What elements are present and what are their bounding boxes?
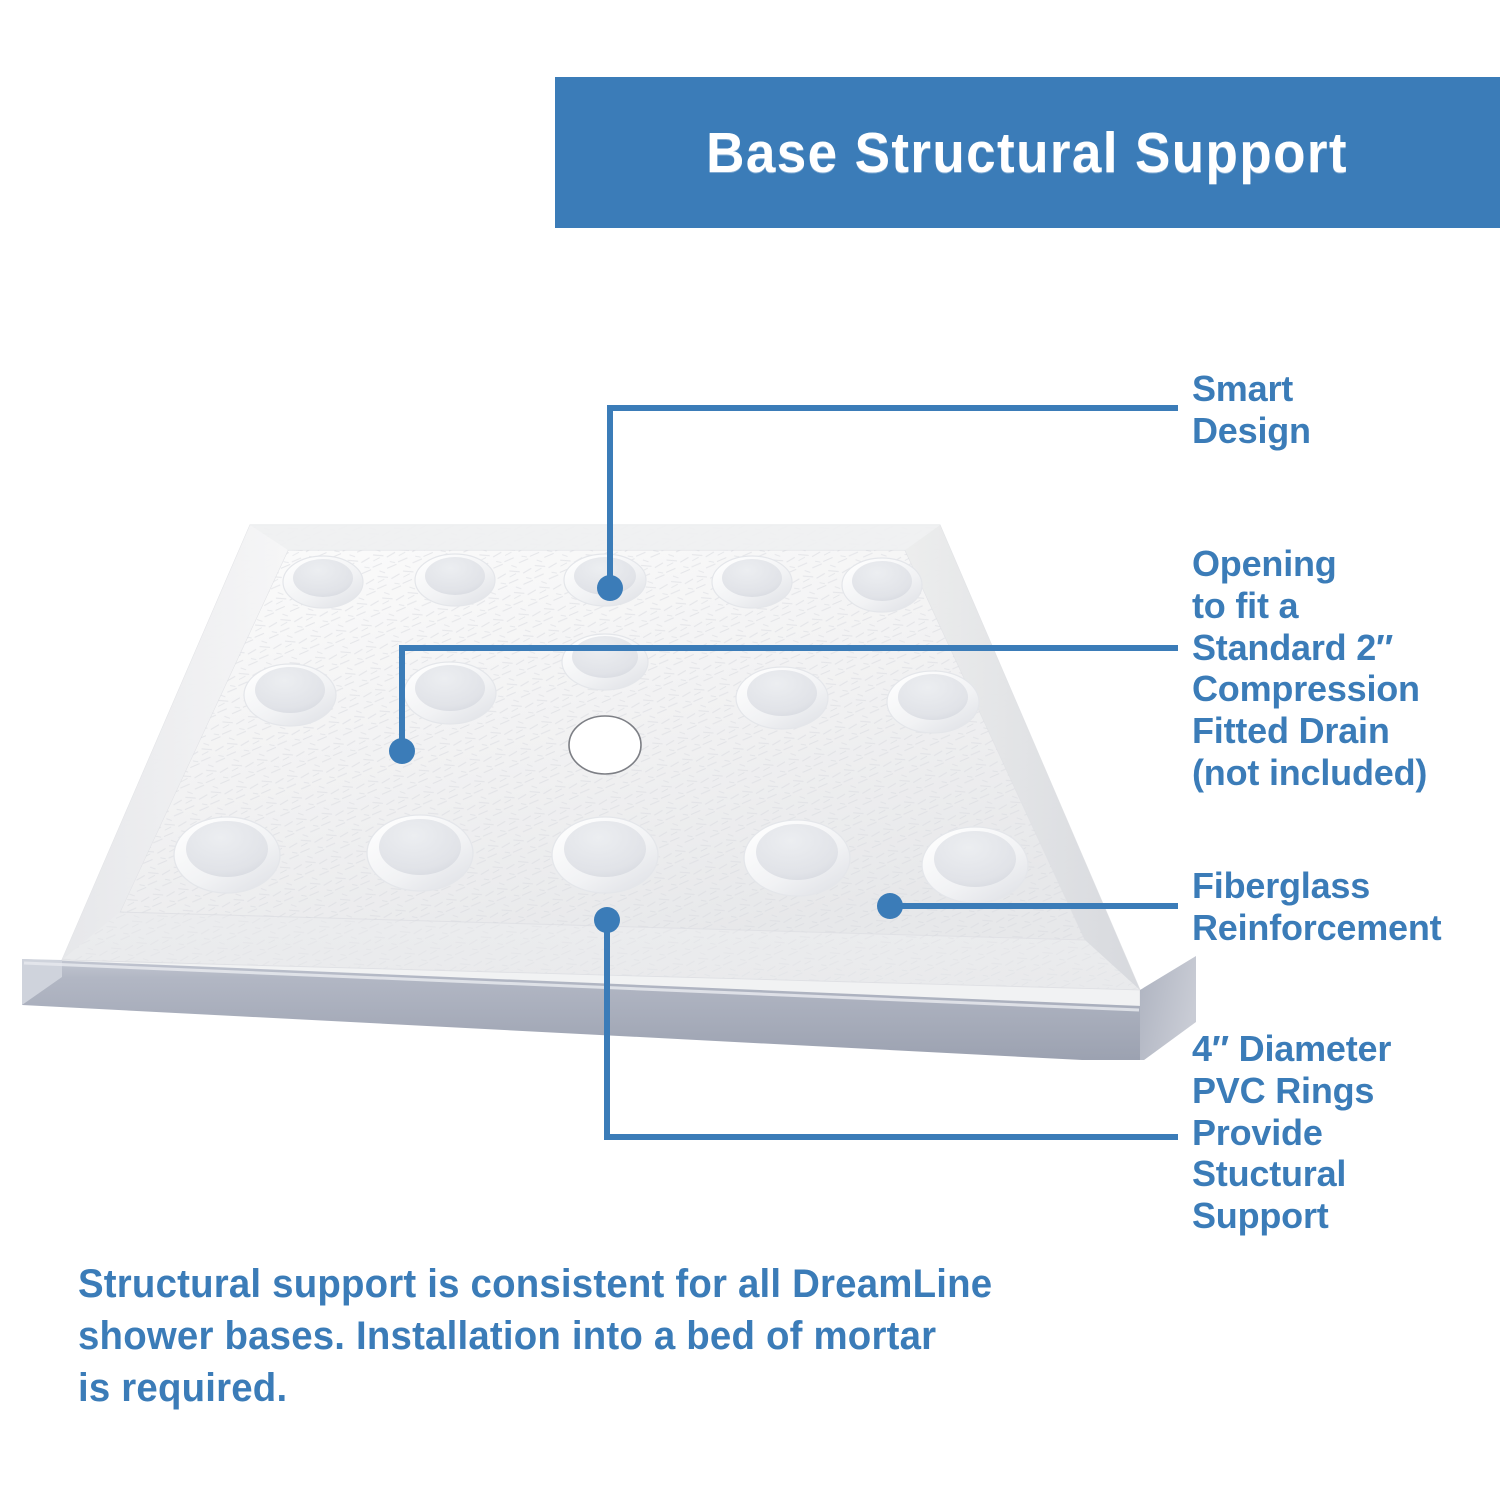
callout-label-fiberglass-reinforcement: Fiberglass Reinforcement xyxy=(1192,865,1500,949)
pvc-ring xyxy=(842,558,922,612)
callout-label-smart-design: Smart Design xyxy=(1192,368,1492,452)
pvc-ring xyxy=(562,634,648,690)
pvc-ring xyxy=(744,820,850,896)
pvc-ring xyxy=(922,827,1028,903)
pvc-ring xyxy=(415,554,495,606)
pvc-ring xyxy=(552,817,658,893)
footer-note: Structural support is consistent for all… xyxy=(78,1258,1000,1414)
callout-label-drain-opening: Opening to fit a Standard 2″ Compression… xyxy=(1192,543,1492,794)
header-banner: Base Structural Support xyxy=(555,77,1500,228)
base-lip-wall-back xyxy=(250,525,940,550)
infographic-page: Base Structural Support xyxy=(0,0,1500,1500)
page-title: Base Structural Support xyxy=(707,120,1349,186)
pvc-ring xyxy=(174,817,280,893)
shower-base-illustration xyxy=(0,440,1200,1060)
pvc-ring xyxy=(283,556,363,608)
pvc-ring xyxy=(564,554,646,606)
pvc-ring xyxy=(736,667,828,729)
callout-label-pvc-rings: 4″ Diameter PVC Rings Provide Stuctural … xyxy=(1192,1028,1492,1237)
pvc-ring xyxy=(404,662,496,724)
base-side-right xyxy=(1140,956,1196,1060)
pvc-ring xyxy=(712,556,792,608)
drain-opening xyxy=(569,716,641,774)
pvc-ring xyxy=(244,664,336,726)
pvc-ring xyxy=(367,815,473,891)
pvc-ring xyxy=(887,671,979,733)
